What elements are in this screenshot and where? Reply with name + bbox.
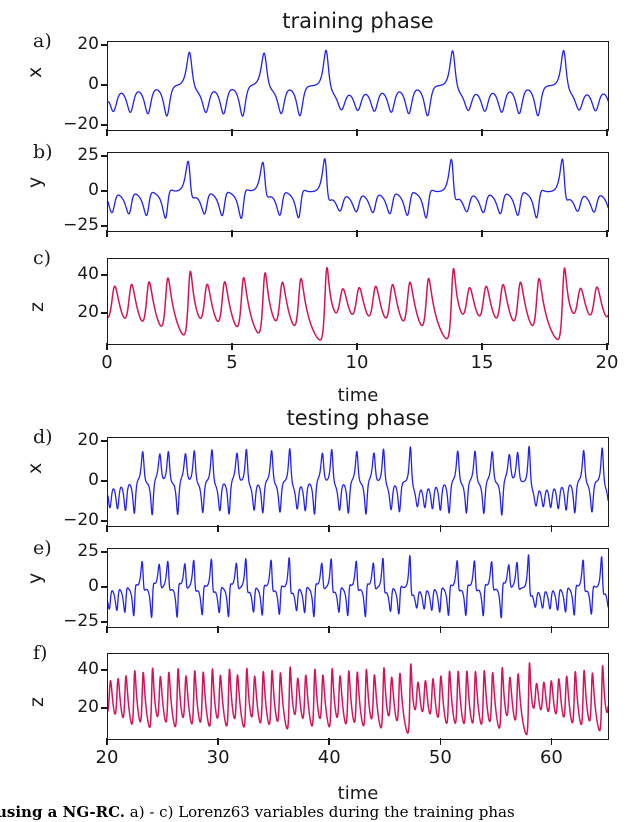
- xtick-mark-c-3: [481, 343, 483, 350]
- ytick-label-f-0: 20: [39, 697, 99, 717]
- ytick-mark-d-2: [101, 440, 107, 442]
- ytick-label-b-1: 0: [39, 180, 99, 200]
- testing-xaxis-label: time: [107, 783, 609, 804]
- ytick-mark-e-0: [101, 621, 107, 623]
- xtick-mark-a-3: [481, 129, 483, 136]
- ytick-label-a-1: 0: [39, 74, 99, 94]
- ytick-mark-d-1: [101, 480, 107, 482]
- ytick-mark-a-2: [101, 44, 107, 46]
- training-xaxis-label: time: [107, 385, 609, 406]
- ytick-label-d-2: 20: [39, 430, 99, 450]
- testing-phase-title: testing phase: [107, 406, 609, 430]
- xtick-label-f-4: 60: [521, 747, 581, 768]
- xtick-mark-a-2: [356, 129, 358, 136]
- ytick-label-f-1: 40: [39, 659, 99, 679]
- xtick-mark-d-4: [551, 525, 553, 532]
- ytick-mark-a-1: [101, 84, 107, 86]
- xtick-label-c-4: 20: [577, 352, 637, 373]
- xtick-label-f-1: 30: [188, 747, 248, 768]
- panel-a-plot-x-training: [107, 41, 609, 131]
- ytick-mark-e-2: [101, 551, 107, 553]
- panel-d-plot-x-testing: [107, 437, 609, 527]
- ytick-label-d-0: −20: [39, 510, 99, 530]
- xtick-mark-c-4: [606, 343, 608, 350]
- xtick-label-f-3: 50: [410, 747, 470, 768]
- ytick-label-c-1: 40: [39, 264, 99, 284]
- xtick-mark-d-0: [106, 525, 108, 532]
- ytick-label-c-0: 20: [39, 302, 99, 322]
- xtick-mark-b-3: [481, 230, 483, 237]
- ytick-mark-b-1: [101, 190, 107, 192]
- ytick-mark-c-1: [101, 274, 107, 276]
- xtick-mark-b-4: [606, 230, 608, 237]
- xtick-mark-f-4: [551, 738, 553, 745]
- ytick-mark-e-1: [101, 586, 107, 588]
- panel-c-plot-z-training: [107, 258, 609, 345]
- ytick-mark-f-1: [101, 669, 107, 671]
- xtick-mark-b-2: [356, 230, 358, 237]
- panel-f-plot-z-testing: [107, 653, 609, 740]
- xtick-mark-c-1: [231, 343, 233, 350]
- xtick-mark-e-3: [440, 626, 442, 633]
- caption-bold: using a NG-RC.: [0, 803, 125, 821]
- xtick-mark-a-0: [106, 129, 108, 136]
- xtick-mark-f-2: [328, 738, 330, 745]
- xtick-mark-a-1: [231, 129, 233, 136]
- ytick-mark-d-0: [101, 520, 107, 522]
- xtick-mark-e-0: [106, 626, 108, 633]
- xtick-mark-d-1: [217, 525, 219, 532]
- ytick-mark-b-0: [101, 225, 107, 227]
- xtick-mark-a-4: [606, 129, 608, 136]
- figure-caption: using a NG-RC. a) - c) Lorenz63 variable…: [0, 803, 636, 821]
- xtick-label-f-2: 40: [299, 747, 359, 768]
- xtick-mark-c-2: [356, 343, 358, 350]
- ytick-mark-a-0: [101, 124, 107, 126]
- xtick-mark-f-1: [217, 738, 219, 745]
- xtick-mark-f-3: [440, 738, 442, 745]
- xtick-mark-e-1: [217, 626, 219, 633]
- xtick-mark-b-1: [231, 230, 233, 237]
- xtick-mark-d-2: [328, 525, 330, 532]
- ytick-label-b-2: 25: [39, 145, 99, 165]
- xtick-label-f-0: 20: [77, 747, 137, 768]
- ytick-label-e-2: 25: [39, 541, 99, 561]
- xtick-label-c-1: 5: [202, 352, 262, 373]
- ytick-label-b-0: −25: [39, 215, 99, 235]
- ytick-label-e-1: 0: [39, 576, 99, 596]
- ytick-label-a-0: −20: [39, 114, 99, 134]
- panel-b-plot-y-training: [107, 152, 609, 232]
- xtick-mark-c-0: [106, 343, 108, 350]
- caption-rest: a) - c) Lorenz63 variables during the tr…: [125, 803, 515, 821]
- ytick-label-d-1: 0: [39, 470, 99, 490]
- figure-lorenz63-timeseries: training phase a) x b) y c) z time testi…: [0, 0, 640, 822]
- xtick-label-c-3: 15: [452, 352, 512, 373]
- xtick-mark-d-3: [440, 525, 442, 532]
- training-phase-title: training phase: [107, 9, 609, 33]
- panel-e-plot-y-testing: [107, 548, 609, 628]
- xtick-mark-e-4: [551, 626, 553, 633]
- xtick-mark-b-0: [106, 230, 108, 237]
- ytick-mark-b-2: [101, 155, 107, 157]
- ytick-label-e-0: −25: [39, 611, 99, 631]
- xtick-mark-f-0: [106, 738, 108, 745]
- xtick-mark-e-2: [328, 626, 330, 633]
- ytick-mark-c-0: [101, 312, 107, 314]
- xtick-label-c-0: 0: [77, 352, 137, 373]
- xtick-label-c-2: 10: [327, 352, 387, 373]
- ytick-label-a-2: 20: [39, 34, 99, 54]
- ytick-mark-f-0: [101, 707, 107, 709]
